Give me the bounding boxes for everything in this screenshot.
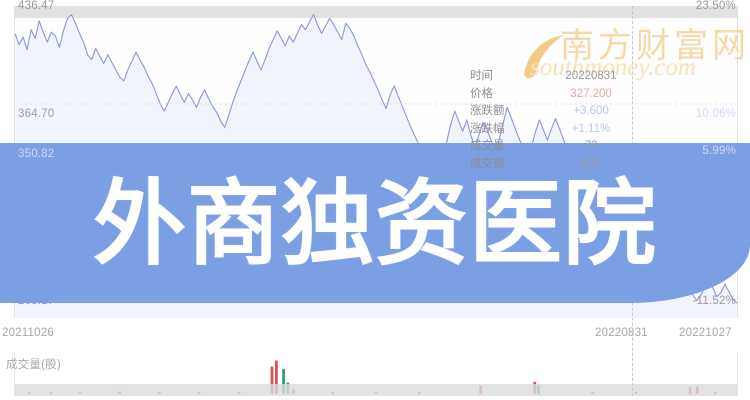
tooltip-row: 时间20220831 — [470, 68, 650, 86]
y-axis-label-left-0: 436.47 — [18, 0, 54, 12]
volume-chart-plot[interactable] — [14, 352, 738, 396]
tooltip-key: 涨跌幅 — [470, 121, 532, 139]
stock-chart-screenshot: 436.47 364.70 23.50% 外商独资医院 350.82 10.06… — [0, 0, 750, 400]
y-axis-label-right-0: 23.50% — [696, 0, 736, 12]
tooltip-value: 73 — [532, 138, 650, 156]
x-axis-date-start: 20211026 — [2, 327, 54, 339]
tooltip-value: +1.11% — [532, 121, 650, 139]
y-axis-label-left-1: 364.70 — [18, 108, 54, 120]
volume-pane-label: 成交量(股) — [6, 356, 61, 372]
tooltip-value: 327.200 — [532, 86, 650, 104]
price-tooltip: 时间20220831价格327.200涨跌额+3.600涨跌幅+1.11%成交量… — [470, 68, 650, 173]
tooltip-row: 涨跌幅+1.11% — [470, 121, 650, 139]
y-axis-label-right-3: -11.52% — [693, 295, 736, 307]
tooltip-key: 时间 — [470, 68, 532, 86]
tooltip-key: 成交额 — [470, 156, 532, 174]
volume-baseline-band — [15, 384, 737, 396]
tooltip-key: 价格 — [470, 86, 532, 104]
x-axis-date-mid: 20220831 — [595, 327, 648, 339]
tooltip-key: 涨跌额 — [470, 103, 532, 121]
tooltip-key: 成交量 — [470, 138, 532, 156]
tooltip-row: 成交额8万 — [470, 156, 650, 174]
tooltip-value: 8万 — [532, 156, 650, 174]
y-axis-label-right-2: 5.99% — [702, 145, 736, 157]
tooltip-value: 20220831 — [532, 68, 650, 86]
y-axis-label-left-2: 350.82 — [18, 148, 54, 160]
tooltip-row: 价格327.200 — [470, 86, 650, 104]
tooltip-value: +3.600 — [532, 103, 650, 121]
tooltip-row: 成交量73 — [470, 138, 650, 156]
x-axis-date-end: 20221027 — [679, 327, 732, 339]
y-axis-label-right-1: 10.06% — [696, 108, 736, 120]
tooltip-row: 涨跌额+3.600 — [470, 103, 650, 121]
